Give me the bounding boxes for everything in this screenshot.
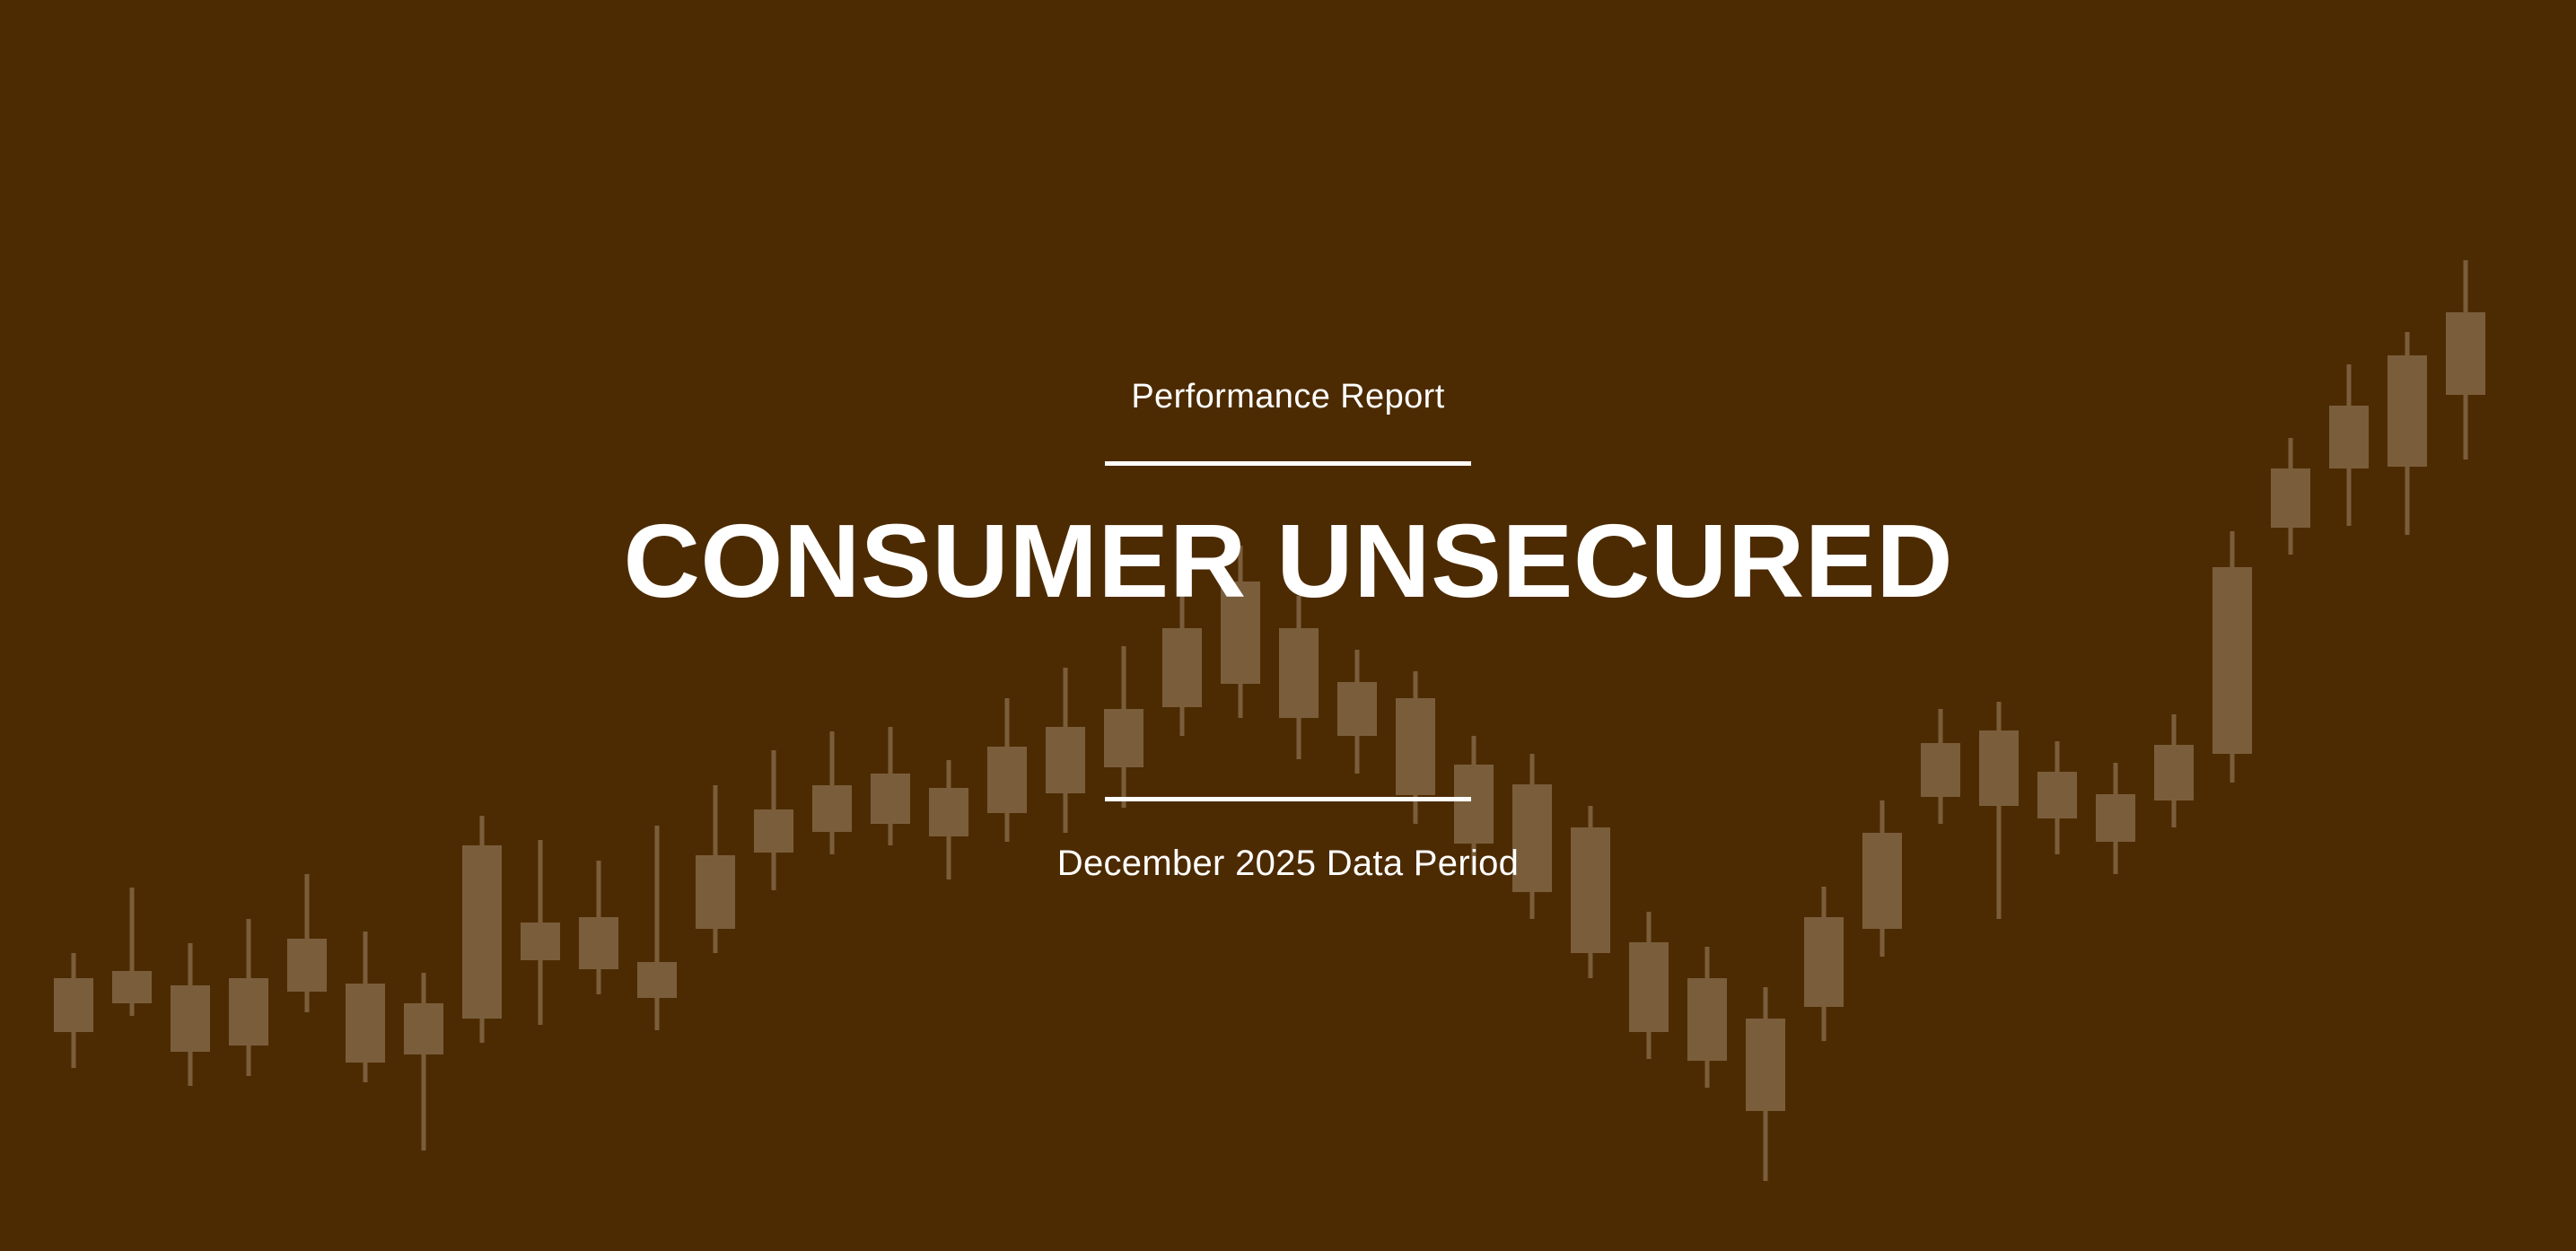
poster-canvas: Performance Report CONSUMER UNSECURED De… (0, 0, 2576, 1251)
page-title: CONSUMER UNSECURED (623, 509, 1953, 613)
title-block: Performance Report CONSUMER UNSECURED De… (0, 0, 2576, 1251)
eyebrow-label: Performance Report (1131, 377, 1444, 418)
divider-top (1105, 461, 1471, 466)
subtitle-label: December 2025 Data Period (1057, 842, 1519, 885)
divider-bottom (1105, 797, 1471, 801)
